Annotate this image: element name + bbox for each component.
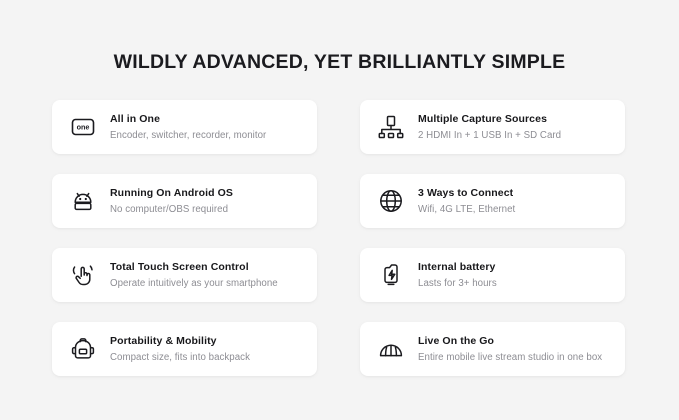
feature-subtitle: Entire mobile live stream studio in one … bbox=[418, 350, 602, 365]
feature-card-text: Internal battery Lasts for 3+ hours bbox=[418, 260, 497, 291]
feature-card-running-on-android-os[interactable]: Running On Android OS No computer/OBS re… bbox=[52, 174, 317, 228]
feature-title: All in One bbox=[110, 112, 266, 127]
feature-card-live-on-the-go[interactable]: Live On the Go Entire mobile live stream… bbox=[360, 322, 625, 376]
feature-card-all-in-one[interactable]: one All in One Encoder, switcher, record… bbox=[52, 100, 317, 154]
feature-title: Running On Android OS bbox=[110, 186, 233, 201]
android-robot-icon bbox=[66, 184, 100, 218]
features-grid: one All in One Encoder, switcher, record… bbox=[52, 100, 625, 376]
feature-card-text: Live On the Go Entire mobile live stream… bbox=[418, 334, 602, 365]
feature-subtitle: 2 HDMI In + 1 USB In + SD Card bbox=[418, 128, 561, 143]
battery-bolt-icon bbox=[374, 258, 408, 292]
feature-title: 3 Ways to Connect bbox=[418, 186, 515, 201]
feature-card-text: Portability & Mobility Compact size, fit… bbox=[110, 334, 250, 365]
feature-subtitle: Encoder, switcher, recorder, monitor bbox=[110, 128, 266, 143]
svg-text:one: one bbox=[77, 123, 90, 132]
globe-icon bbox=[374, 184, 408, 218]
page-title: WILDLY ADVANCED, YET BRILLIANTLY SIMPLE bbox=[0, 49, 679, 75]
feature-card-text: Total Touch Screen Control Operate intui… bbox=[110, 260, 278, 291]
all-in-one-icon: one bbox=[66, 110, 100, 144]
feature-card-text: All in One Encoder, switcher, recorder, … bbox=[110, 112, 266, 143]
feature-title: Multiple Capture Sources bbox=[418, 112, 561, 127]
backpack-icon bbox=[66, 332, 100, 366]
feature-subtitle: Compact size, fits into backpack bbox=[110, 350, 250, 365]
feature-title: Portability & Mobility bbox=[110, 334, 250, 349]
feature-subtitle: Lasts for 3+ hours bbox=[418, 276, 497, 291]
feature-grid-page: WILDLY ADVANCED, YET BRILLIANTLY SIMPLE … bbox=[0, 0, 679, 420]
feature-card-text: Running On Android OS No computer/OBS re… bbox=[110, 186, 233, 217]
feature-card-internal-battery[interactable]: Internal battery Lasts for 3+ hours bbox=[360, 248, 625, 302]
feature-card-multiple-capture-sources[interactable]: Multiple Capture Sources 2 HDMI In + 1 U… bbox=[360, 100, 625, 154]
feature-card-total-touch-screen-control[interactable]: Total Touch Screen Control Operate intui… bbox=[52, 248, 317, 302]
feature-title: Live On the Go bbox=[418, 334, 602, 349]
feature-card-text: Multiple Capture Sources 2 HDMI In + 1 U… bbox=[418, 112, 561, 143]
feature-title: Total Touch Screen Control bbox=[110, 260, 278, 275]
feature-title: Internal battery bbox=[418, 260, 497, 275]
feature-subtitle: Wifi, 4G LTE, Ethernet bbox=[418, 202, 515, 217]
feature-subtitle: No computer/OBS required bbox=[110, 202, 233, 217]
feature-card-portability-mobility[interactable]: Portability & Mobility Compact size, fit… bbox=[52, 322, 317, 376]
feature-card-text: 3 Ways to Connect Wifi, 4G LTE, Ethernet bbox=[418, 186, 515, 217]
feature-subtitle: Operate intuitively as your smartphone bbox=[110, 276, 278, 291]
touch-hand-icon bbox=[66, 258, 100, 292]
feature-card-3-ways-to-connect[interactable]: 3 Ways to Connect Wifi, 4G LTE, Ethernet bbox=[360, 174, 625, 228]
capture-sources-icon bbox=[374, 110, 408, 144]
tent-icon bbox=[374, 332, 408, 366]
